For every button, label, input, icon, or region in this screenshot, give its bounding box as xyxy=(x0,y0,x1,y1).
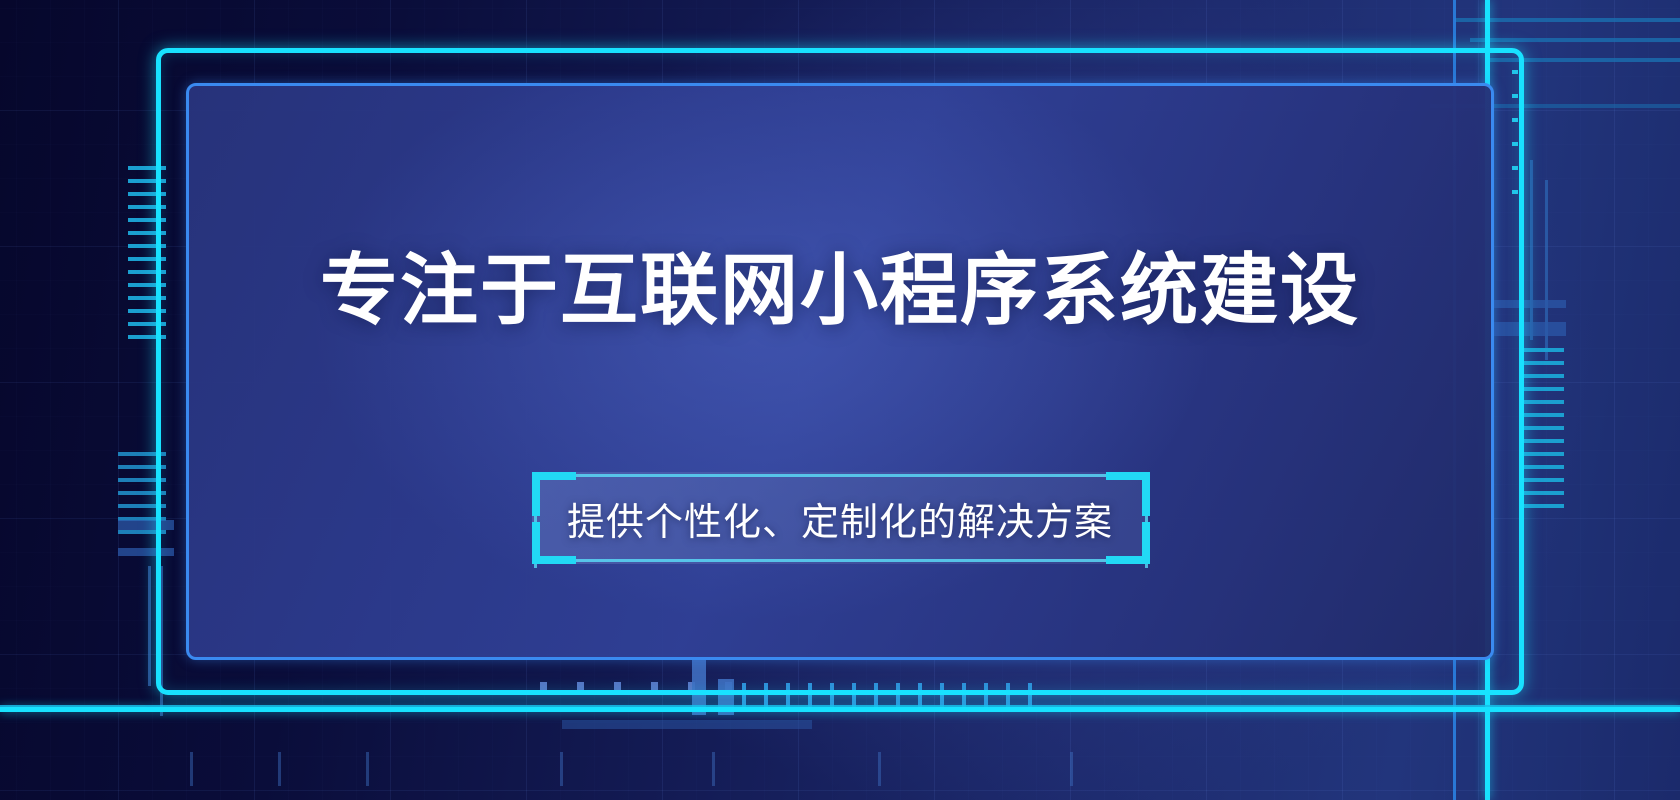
page-title: 专注于互联网小程序系统建设 xyxy=(0,248,1680,332)
left-vline-1 xyxy=(148,566,151,686)
bottom-vline-5 xyxy=(712,752,715,786)
bottom-vline-1 xyxy=(190,752,193,786)
banner-stage: 专注于互联网小程序系统建设 提供个性化、定制化的解决方案 xyxy=(0,0,1680,800)
headline-block: 专注于互联网小程序系统建设 xyxy=(0,248,1680,332)
bottom-vline-3 xyxy=(366,752,369,786)
bottom-vline-2 xyxy=(278,752,281,786)
bottom-neon-rail xyxy=(0,707,1680,712)
right-tick-stack xyxy=(1520,348,1564,517)
bottom-vline-7 xyxy=(1070,752,1073,786)
subtitle-plaque: 提供个性化、定制化的解决方案 xyxy=(514,462,1166,574)
subtitle-text: 提供个性化、定制化的解决方案 xyxy=(514,462,1166,574)
bottom-vline-4 xyxy=(560,752,563,786)
bottom-vline-6 xyxy=(878,752,881,786)
top-stroke-2 xyxy=(1470,38,1680,42)
bottom-slab xyxy=(562,720,812,729)
